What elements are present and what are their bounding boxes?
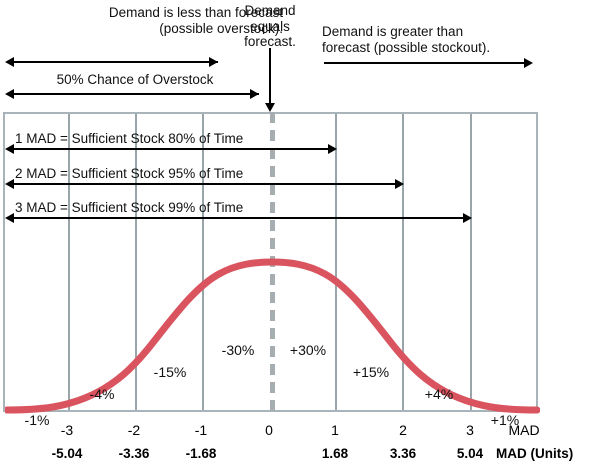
distribution-plot-area: 1 MAD = Sufficient Stock 80% of Time 2 M… [3,112,538,412]
axis-tick-mad-plus-1: 1 [309,422,361,438]
annotation-50-percent-chance-overstock: 50% Chance of Overstock [8,72,262,88]
mad-row-3-arrow-line [14,217,463,219]
arrow-left-range-head-left [5,57,14,67]
arrow-right-range-line [324,62,525,64]
mad-row-1-arrow-head-right [328,144,337,154]
arrow-overstock-line [14,93,259,95]
annotation-demand-equals-forecast: Demand equals forecast. [222,3,318,50]
mad-row-3-arrow-head-right [463,213,472,223]
axis-tick-mad-plus-3: 3 [444,422,496,438]
band-label-plus-30: +30% [279,342,337,358]
band-label-plus-15: +15% [342,364,400,380]
axis-title-mad: MAD [498,422,550,438]
axis-tick-units-plus-504: 5.04 [437,446,503,461]
axis-tick-units-minus-168: -1.68 [168,446,234,461]
axis-tick-units-minus-336: -3.36 [101,446,167,461]
diagram-canvas: Demand is less than forecast (possible o… [0,0,603,468]
mad-row-1-arrow-line [14,148,328,150]
mad-row-2-label: 2 MAD = Sufficient Stock 95% of Time [15,166,243,181]
mad-row-1-label: 1 MAD = Sufficient Stock 80% of Time [15,131,243,146]
mad-row-2-arrow-line [14,183,395,185]
band-label-minus-15: -15% [141,364,199,380]
mad-row-3-arrow-head-left [5,213,14,223]
axis-tick-units-plus-168: 1.68 [302,446,368,461]
axis-tick-units-plus-336: 3.36 [370,446,436,461]
arrow-left-range-line [14,61,218,63]
axis-tick-mad-minus-1: -1 [175,422,227,438]
axis-tick-mad-plus-2: 2 [377,422,429,438]
mad-row-1-arrow-head-left [5,144,14,154]
axis-tick-mad-minus-2: -2 [108,422,160,438]
band-label-minus-30: -30% [209,342,267,358]
arrow-overstock-head-right [250,89,259,99]
arrow-overstock-head-left [5,89,14,99]
normal-distribution-curve [5,114,540,414]
arrow-center-down-line [269,48,271,106]
axis-tick-mad-minus-3: -3 [41,422,93,438]
band-label-minus-4: -4% [77,386,127,402]
axis-tick-units-minus-504: -5.04 [34,446,100,461]
mad-row-2-arrow-head-left [5,179,14,189]
arrow-center-down-head [265,103,275,112]
axis-tick-mad-zero: 0 [243,422,295,438]
arrow-right-range-head-right [524,58,533,68]
arrow-left-range-head-right [209,57,218,67]
mad-row-2-arrow-head-right [395,179,404,189]
band-label-plus-4: +4% [413,386,465,402]
annotation-demand-greater-than-forecast: Demand is greater than forecast (possibl… [322,24,562,55]
mad-row-3-label: 3 MAD = Sufficient Stock 99% of Time [15,200,243,215]
axis-title-mad-units: MAD (Units) [496,446,600,461]
